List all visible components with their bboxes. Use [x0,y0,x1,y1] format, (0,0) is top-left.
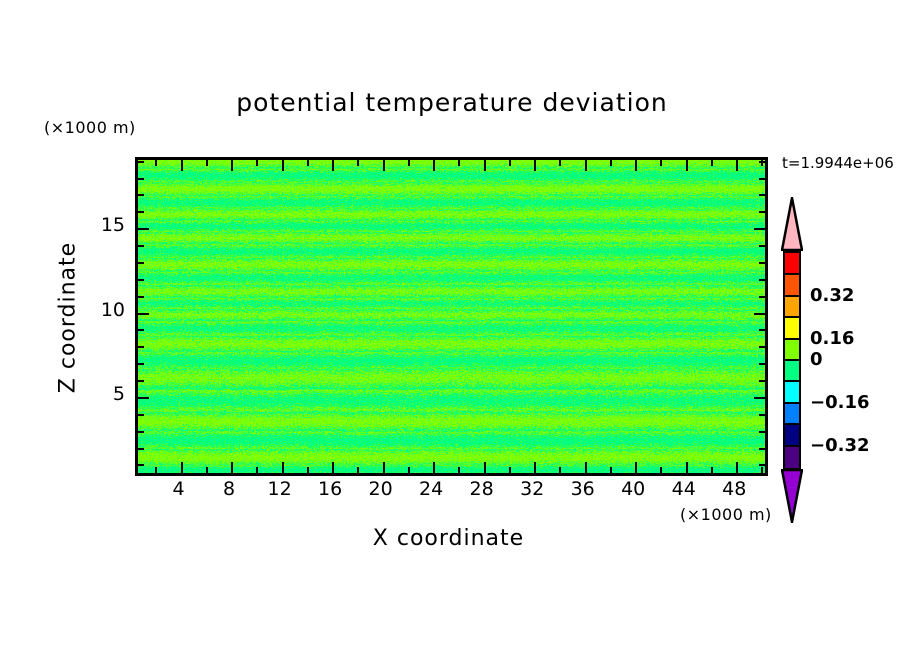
x-minor-tick-top [610,160,612,166]
y-axis-label: Z coordinate [56,208,81,428]
colorbar-tick-label: −0.32 [810,435,870,456]
x-major-tick [484,462,486,473]
x-minor-tick-top [256,160,258,166]
x-major-tick-top [736,160,738,171]
x-tick-label: 12 [257,478,303,500]
y-tick-label: 15 [85,214,125,236]
x-minor-tick-top [711,160,713,166]
x-major-tick [585,462,587,473]
y-tick-label: 5 [85,383,125,405]
x-major-tick-top [635,160,637,171]
x-major-tick-top [332,160,334,171]
y-tick-label: 10 [85,299,125,321]
x-major-tick [332,462,334,473]
x-minor-tick [610,467,612,473]
y-minor-tick-right [759,346,765,348]
colorbar-over-arrow-icon [781,197,803,251]
colorbar-band [785,360,799,382]
y-major-tick [138,228,149,230]
x-minor-tick [660,467,662,473]
colorbar-band-divider [785,423,799,425]
y-minor-tick [138,464,144,466]
y-minor-tick-right [759,211,765,213]
x-major-tick [736,462,738,473]
y-minor-tick-right [759,194,765,196]
colorbar-band [785,274,799,296]
colorbar [783,251,801,469]
x-tick-label: 32 [509,478,555,500]
x-tick-label: 20 [358,478,404,500]
colorbar-band [785,381,799,403]
y-minor-tick [138,431,144,433]
x-minor-tick-top [509,160,511,166]
colorbar-band-divider [785,402,799,404]
x-major-tick-top [231,160,233,171]
x-minor-tick-top [559,160,561,166]
x-minor-tick [458,467,460,473]
y-minor-tick-right [759,262,765,264]
y-minor-tick [138,194,144,196]
y-minor-tick-right [759,448,765,450]
colorbar-band [785,317,799,339]
colorbar-band [785,339,799,361]
x-tick-label: 28 [459,478,505,500]
y-minor-tick-right [759,161,765,163]
x-minor-tick-top [408,160,410,166]
x-minor-tick [307,467,309,473]
x-major-tick-top [433,160,435,171]
colorbar-tick-label: 0 [810,349,823,370]
colorbar-tick-label: 0.32 [810,285,854,306]
figure-canvas: potential temperature deviation (×1000 m… [0,0,904,654]
x-major-tick-top [484,160,486,171]
y-minor-tick [138,161,144,163]
x-major-tick-top [585,160,587,171]
x-major-tick [282,462,284,473]
x-minor-tick [256,467,258,473]
colorbar-band-divider [785,273,799,275]
x-tick-label: 48 [711,478,757,500]
x-major-tick [635,462,637,473]
x-minor-tick-top [206,160,208,166]
y-minor-tick [138,380,144,382]
x-major-tick-top [181,160,183,171]
x-minor-tick [357,467,359,473]
x-major-tick-top [383,160,385,171]
x-major-tick-top [534,160,536,171]
colorbar-band [785,296,799,318]
x-tick-label: 4 [156,478,202,500]
colorbar-band-divider [785,359,799,361]
x-major-tick [433,462,435,473]
x-major-tick [383,462,385,473]
chart-title: potential temperature deviation [0,88,904,117]
colorbar-band [785,424,799,446]
colorbar-tick-label: −0.16 [810,392,870,413]
y-minor-tick-right [759,380,765,382]
x-tick-label: 16 [307,478,353,500]
y-minor-tick-right [759,279,765,281]
colorbar-band-divider [785,338,799,340]
y-minor-tick-right [759,431,765,433]
x-minor-tick [408,467,410,473]
x-tick-label: 44 [661,478,707,500]
x-minor-tick-top [357,160,359,166]
y-major-tick-right [754,228,765,230]
y-minor-tick-right [759,245,765,247]
colorbar-band-divider [785,445,799,447]
timestamp-annotation: t=1.9944e+06 [782,154,894,172]
x-minor-tick [559,467,561,473]
colorbar-under-arrow-icon [781,469,803,523]
y-minor-tick [138,414,144,416]
x-axis-label: X coordinate [135,526,762,551]
x-tick-label: 24 [408,478,454,500]
y-minor-tick-right [759,414,765,416]
x-major-tick-top [686,160,688,171]
colorbar-tick-label: 0.16 [810,328,854,349]
y-minor-tick [138,296,144,298]
y-minor-tick [138,178,144,180]
y-minor-tick [138,262,144,264]
y-minor-tick [138,346,144,348]
colorbar-band-divider [785,295,799,297]
x-minor-tick-top [155,160,157,166]
y-minor-tick [138,279,144,281]
y-minor-tick [138,448,144,450]
colorbar-band-divider [785,380,799,382]
x-minor-tick [711,467,713,473]
y-major-tick-right [754,397,765,399]
y-minor-tick-right [759,329,765,331]
contour-field [138,160,765,473]
x-minor-tick-top [307,160,309,166]
y-minor-tick-right [759,363,765,365]
y-minor-tick-right [759,178,765,180]
y-minor-tick [138,329,144,331]
x-minor-tick-top [660,160,662,166]
y-axis-units-label: (×1000 m) [44,118,136,137]
x-tick-label: 36 [560,478,606,500]
colorbar-band [785,253,799,275]
y-minor-tick-right [759,464,765,466]
heatmap-plot-area [135,157,768,476]
x-minor-tick [761,467,763,473]
colorbar-band [785,403,799,425]
x-minor-tick [509,467,511,473]
x-minor-tick [206,467,208,473]
colorbar-band-divider [785,316,799,318]
y-minor-tick [138,245,144,247]
x-minor-tick [155,467,157,473]
x-major-tick [534,462,536,473]
y-minor-tick-right [759,296,765,298]
x-major-tick [686,462,688,473]
x-tick-label: 8 [206,478,252,500]
colorbar-band [785,446,799,468]
x-major-tick [181,462,183,473]
y-minor-tick [138,211,144,213]
x-major-tick-top [282,160,284,171]
x-major-tick [231,462,233,473]
y-major-tick-right [754,313,765,315]
x-tick-label: 40 [610,478,656,500]
x-minor-tick-top [458,160,460,166]
y-major-tick [138,313,149,315]
contour-field-raster [138,160,765,473]
x-axis-units-label: (×1000 m) [680,505,772,524]
y-minor-tick [138,363,144,365]
y-major-tick [138,397,149,399]
